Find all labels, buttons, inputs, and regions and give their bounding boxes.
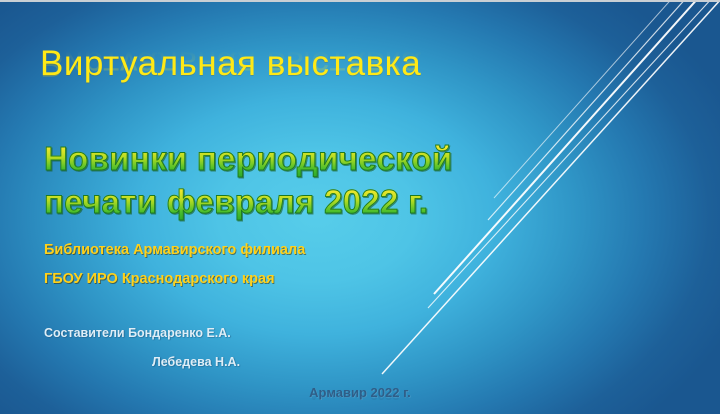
institution-line-1: Библиотека Армавирского филиала — [44, 243, 305, 258]
main-heading-line-1: Новинки периодической — [44, 138, 664, 181]
main-heading-line-2: печати февраля 2022 г. — [44, 181, 664, 224]
institution-line-2: ГБОУ ИРО Краснодарского края — [44, 272, 305, 287]
compiler-line-1: Составители Бондаренко Е.А. — [44, 327, 374, 340]
slide-title-block: Виртуальная выставка Виртуальная выставк… — [40, 46, 640, 118]
main-heading-block: Новинки периодической печати февраля 202… — [44, 138, 664, 224]
footer-location-year-reflection: Армавир 2022 г. — [0, 388, 720, 402]
compilers-block: Составители Бондаренко Е.А. Лебедева Н.А… — [44, 327, 374, 385]
presentation-slide: Виртуальная выставка Виртуальная выставк… — [0, 0, 720, 414]
institution-block: Библиотека Армавирского филиала ГБОУ ИРО… — [44, 243, 305, 301]
footer-block: Армавир 2022 г. Армавир 2022 г. — [0, 384, 720, 414]
compiler-line-2: Лебедева Н.А. — [44, 356, 374, 369]
slide-title-reflection: Виртуальная выставка — [40, 44, 640, 81]
